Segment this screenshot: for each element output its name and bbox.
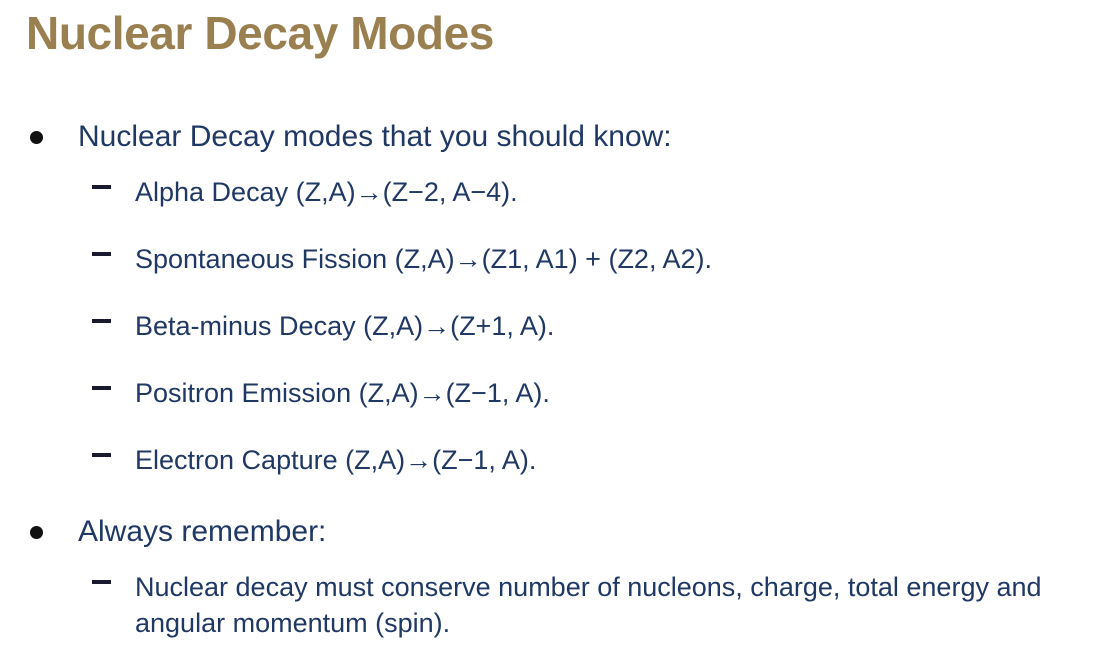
sub-bullet-alpha-decay: Alpha Decay (Z,A)→(Z−2, A−4). [0, 170, 1118, 237]
sub-bullet-label: Electron Capture (Z,A)→(Z−1, A). [135, 438, 1118, 478]
dash-bullet-icon [92, 319, 111, 323]
slide-canvas: Nuclear Decay Modes Nuclear Decay modes … [0, 0, 1118, 663]
sub-bullet-group-decay-modes: Alpha Decay (Z,A)→(Z−2, A−4). Spontaneou… [0, 170, 1118, 505]
bullet-level1: Nuclear Decay modes that you should know… [0, 118, 1118, 156]
bullet-level1: Always remember: [0, 513, 1118, 551]
dash-bullet-icon [92, 453, 111, 457]
sub-bullet-conservation-laws: Nuclear decay must conserve number of nu… [0, 565, 1118, 641]
dash-bullet-icon [92, 252, 111, 256]
sub-bullet-label: Nuclear decay must conserve number of nu… [135, 565, 1098, 641]
bullet-dot-icon [30, 526, 43, 539]
sub-bullet-beta-minus-decay: Beta-minus Decay (Z,A)→(Z+1, A). [0, 304, 1118, 371]
section-spacer [0, 505, 1118, 513]
sub-bullet-electron-capture: Electron Capture (Z,A)→(Z−1, A). [0, 438, 1118, 505]
bullet-level1-label: Nuclear Decay modes that you should know… [78, 120, 672, 153]
sub-bullet-label: Beta-minus Decay (Z,A)→(Z+1, A). [135, 304, 1118, 344]
sub-bullet-spontaneous-fission: Spontaneous Fission (Z,A)→(Z1, A1) + (Z2… [0, 237, 1118, 304]
bullet-level1-label: Always remember: [78, 515, 326, 548]
slide-body: Nuclear Decay modes that you should know… [0, 118, 1118, 641]
dash-bullet-icon [92, 386, 111, 390]
dash-bullet-icon [92, 185, 111, 189]
bullet-dot-icon [30, 131, 43, 144]
sub-bullet-label: Alpha Decay (Z,A)→(Z−2, A−4). [135, 170, 1118, 210]
sub-bullet-label: Positron Emission (Z,A)→(Z−1, A). [135, 371, 1118, 411]
sub-bullet-positron-emission: Positron Emission (Z,A)→(Z−1, A). [0, 371, 1118, 438]
sub-bullet-label: Spontaneous Fission (Z,A)→(Z1, A1) + (Z2… [135, 237, 1118, 277]
page-title: Nuclear Decay Modes [26, 2, 1086, 64]
dash-bullet-icon [92, 580, 111, 584]
sub-bullet-group-remember: Nuclear decay must conserve number of nu… [0, 565, 1118, 641]
